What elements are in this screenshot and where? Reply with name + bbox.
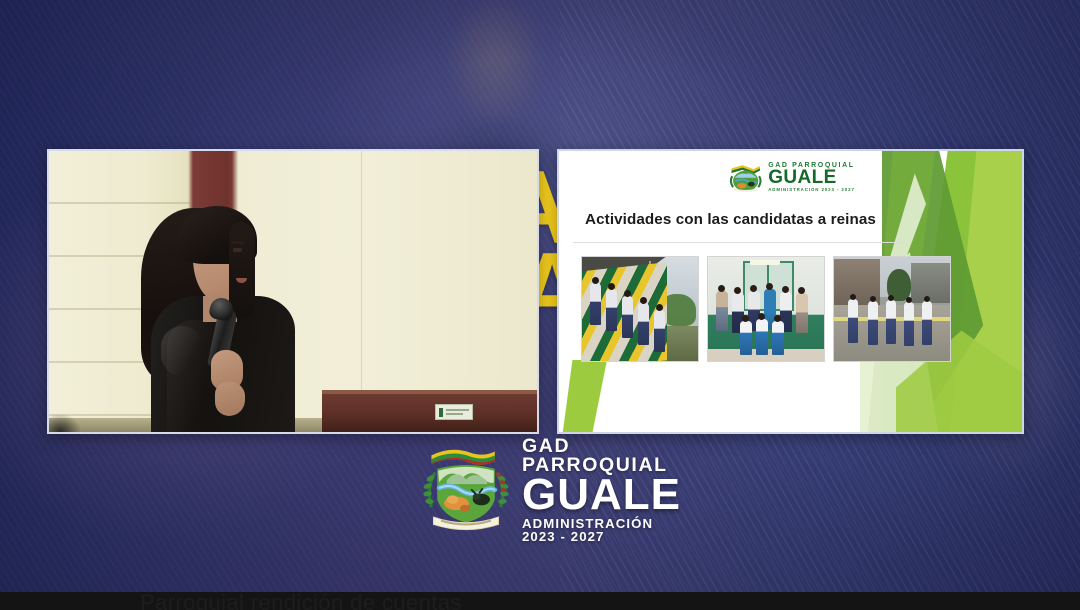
guale-crest-small-icon [726,162,764,192]
letterbox-faint-text: Parroquial rendición de cuentas [140,592,462,610]
stream-stage: DA IVA AYO [0,0,1080,610]
photo1-person [622,296,633,338]
photo2-person-head [766,283,773,290]
photo1-person [638,303,649,345]
photo3-person [848,299,858,343]
photo3-person-head [888,295,894,301]
slide-photo-2 [707,256,825,362]
speaker-jacket-highlight [161,326,203,376]
photo3-person-head [906,297,912,303]
photo2-person-head [742,315,749,322]
photo3-building-right [911,263,950,303]
photo2-person [716,291,728,331]
speaker-figure [137,200,305,432]
nameplate-line-1 [446,409,469,411]
photo2-person-head [750,285,757,292]
slide-photo-1 [581,256,699,362]
podium [322,394,537,432]
photo2-person-front [772,321,784,355]
photo1-person-head [592,277,599,284]
brand-logo: GAD PARROQUIAL GUALE ADMINISTRACIÓN 2023… [418,438,680,538]
slide-canvas: GAD PARROQUIAL GUALE ADMINISTRACIÓN 2023… [559,151,1022,432]
photo1-person-head [624,290,631,297]
speaker-eyebrow [231,241,244,244]
nameplate-line-2 [446,413,463,415]
photo2-person-head [758,313,765,320]
guale-coat-of-arms-icon [418,440,514,536]
photo2-person-front [740,321,752,355]
photo2-person-head [774,315,781,322]
photo1-person [654,310,665,352]
letterbox-bar: Parroquial rendición de cuentas [0,592,1080,610]
photo1-person-head [656,304,663,311]
speaker-camera-panel[interactable] [47,149,539,434]
photo2-person-front [756,319,768,355]
photo3-person [922,301,932,345]
slide-photo-3 [833,256,951,362]
speaker-hand-lower [215,382,245,416]
photo1-person [606,289,617,331]
photo1-person-head [640,297,647,304]
presentation-slide-panel[interactable]: GAD PARROQUIAL GUALE ADMINISTRACIÓN 2023… [557,149,1024,434]
slide-logo-line-3: ADMINISTRACIÓN 2023 - 2027 [768,188,855,192]
photo3-person [868,301,878,345]
photo2-person-head [782,286,789,293]
photo2-person [796,293,808,333]
brand-line-3: ADMINISTRACIÓN 2023 - 2027 [522,517,681,543]
slide-title: Actividades con las candidatas a reinas [559,211,902,228]
speaker-hair-side [229,222,255,318]
foreground-shadow [49,406,87,432]
speaker-eye [233,248,242,252]
slide-logo: GAD PARROQUIAL GUALE ADMINISTRACIÓN 2023… [726,162,855,192]
photo3-person-head [870,296,876,302]
nameplate-logo [439,408,443,417]
photo2-person-head [798,287,805,294]
photo3-person-head [924,296,930,302]
photo3-person [886,300,896,344]
photo3-person [904,302,914,346]
photo2-person-head [734,287,741,294]
photo2-person-head [718,285,725,292]
slide-photo-row [581,256,951,362]
slide-logo-line-2: GUALE [768,168,855,187]
photo1-person-head [608,283,615,290]
photo3-person-head [850,294,856,300]
podium-nameplate [435,404,473,420]
brand-line-2: GUALE [522,473,681,517]
photo2-ceiling-light [750,260,780,265]
photo1-person [590,283,601,325]
slide-divider [573,242,902,243]
